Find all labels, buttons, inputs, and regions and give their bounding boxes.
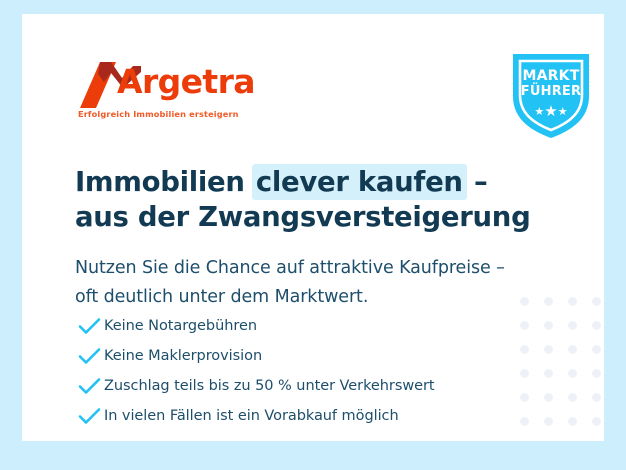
dot [568,417,577,426]
dot [592,297,601,306]
list-item: Zuschlag teils bis zu 50 % unter Verkehr… [77,371,537,401]
list-item: Keine Notargebühren [77,311,537,341]
headline-line2: aus der Zwangsversteigerung [75,201,530,233]
dot [544,321,553,330]
page-title: Immobilien clever kaufen – aus der Zwang… [75,165,575,235]
list-item-label: Keine Notargebühren [104,318,257,334]
logo-tagline: Erfolgreich Immobilien ersteigern [78,109,239,119]
check-icon [77,406,104,426]
list-item-label: In vielen Fällen ist ein Vorabkauf mögli… [104,408,399,424]
dot [544,345,553,354]
list-item: Keine Maklerprovision [77,341,537,371]
dot [568,345,577,354]
dot [568,321,577,330]
list-item: In vielen Fällen ist ein Vorabkauf mögli… [77,401,537,431]
subhead-line2: oft deutlich unter dem Marktwert. [75,287,368,307]
headline-line1-pre: Immobilien [75,166,254,198]
markt-fuehrer-badge: MARKT FÜHRER ★★★ [509,48,593,140]
list-item-label: Keine Maklerprovision [104,348,262,364]
dot [568,393,577,402]
benefits-checklist: Keine Notargebühren Keine Maklerprovisio… [77,311,537,431]
page-subtitle: Nutzen Sie die Chance auf attraktive Kau… [75,254,575,312]
dot [592,369,601,378]
shield-badge-icon [509,48,593,140]
dot [544,369,553,378]
dot [568,369,577,378]
dot [544,417,553,426]
dot [544,393,553,402]
dot [592,393,601,402]
check-icon [77,316,104,336]
page-background: Argetra Erfolgreich Immobilien ersteiger… [0,0,626,470]
check-icon [77,346,104,366]
dot [592,321,601,330]
headline-highlight: clever kaufen [252,164,467,200]
subhead-line1: Nutzen Sie die Chance auf attraktive Kau… [75,258,505,278]
dot [592,345,601,354]
promo-card: Argetra Erfolgreich Immobilien ersteiger… [22,14,604,441]
headline-line1-post: – [465,166,488,198]
logo-wordmark: Argetra [117,65,255,98]
check-icon [77,376,104,396]
dot [592,417,601,426]
list-item-label: Zuschlag teils bis zu 50 % unter Verkehr… [104,378,435,394]
argetra-logo[interactable]: Argetra Erfolgreich Immobilien ersteiger… [78,58,278,126]
